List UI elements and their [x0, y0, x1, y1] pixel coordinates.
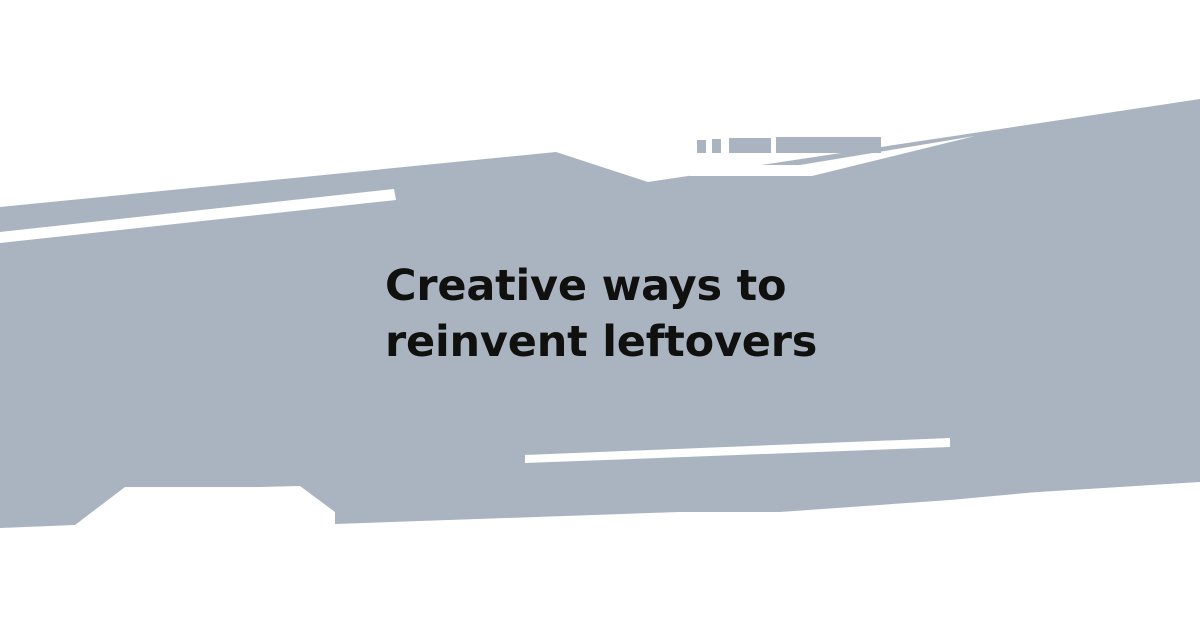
- dash-mark-1: [697, 140, 706, 153]
- dash-mark-2: [712, 139, 721, 153]
- decorative-banner-artwork: [0, 0, 1200, 630]
- banner-card: Creative ways to reinvent leftovers: [0, 0, 1200, 630]
- dash-mark-3: [729, 138, 771, 153]
- dash-mark-4: [776, 137, 881, 153]
